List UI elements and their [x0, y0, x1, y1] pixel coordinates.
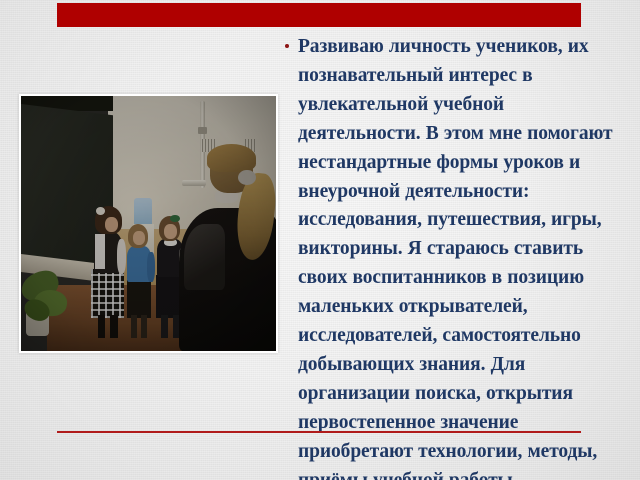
classroom-photo-image: [21, 96, 276, 351]
photo-student-hair-bow: [96, 207, 105, 215]
slide-canvas: Развиваю личность учеников, их познавате…: [0, 0, 640, 480]
photo-foreground-student-shoulder: [184, 224, 225, 290]
bullet-list: Развиваю личность учеников, их познавате…: [281, 33, 626, 480]
photo-student-face: [133, 231, 144, 245]
photo-student-leg: [141, 315, 148, 338]
top-red-banner: [57, 3, 581, 27]
photo-foreground-student-hair-tie: [238, 170, 256, 185]
bottom-red-rule: [57, 431, 581, 433]
photo-student-face: [164, 224, 177, 239]
classroom-photo: [19, 94, 278, 353]
photo-student-leg: [131, 315, 138, 338]
photo-foreground-student-hair: [207, 144, 255, 172]
photo-student-leg: [161, 315, 168, 338]
photo-student-skirt: [127, 280, 151, 318]
photo-student-leg: [110, 315, 118, 338]
bullet-item: Развиваю личность учеников, их познавате…: [281, 33, 626, 480]
photo-student-skirt: [91, 269, 124, 317]
photo-wall-pipe-bend: [182, 180, 206, 186]
photo-pipe-clamp: [198, 127, 207, 135]
slide-body-text: Развиваю личность учеников, их познавате…: [281, 33, 626, 480]
photo-student-face: [105, 217, 118, 232]
photo-student-leg: [98, 315, 106, 338]
photo-student-arm: [147, 252, 155, 283]
photo-student-arm: [117, 239, 126, 275]
photo-student-blouse: [95, 234, 105, 270]
